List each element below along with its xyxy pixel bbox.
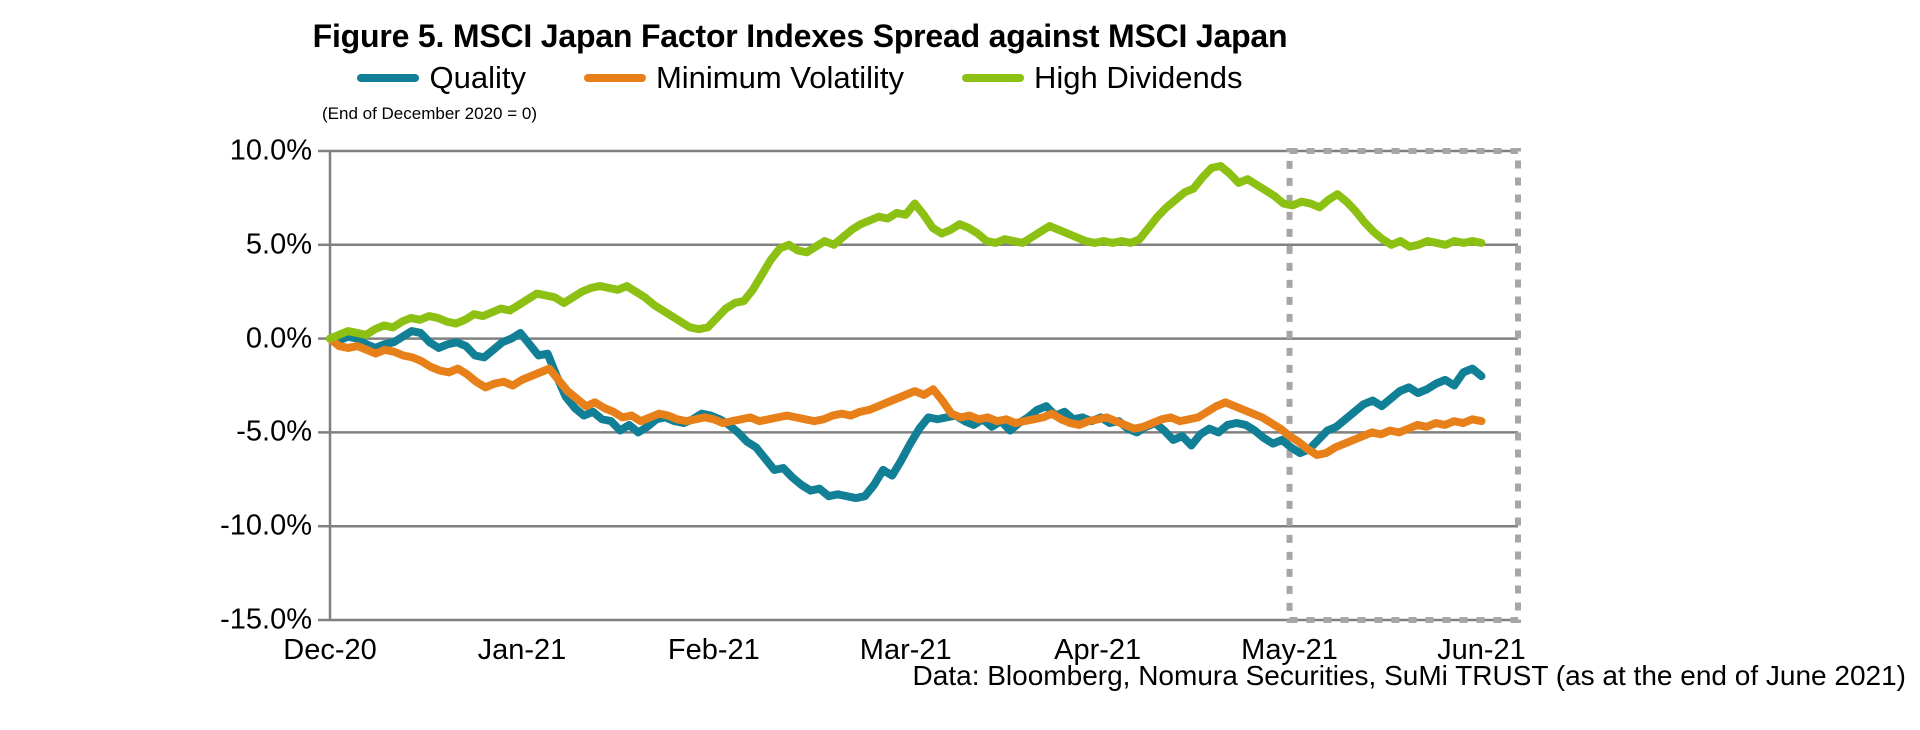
series-line-quality [330,331,1481,498]
source-note: Data: Bloomberg, Nomura Securities, SuMi… [913,660,1906,692]
figure-container: Figure 5. MSCI Japan Factor Indexes Spre… [0,0,1920,730]
series-line-high-dividends [330,166,1481,339]
series-line-minimum-volatility [330,339,1481,455]
y-axis-label: -10.0% [182,510,312,543]
x-axis-label: Feb-21 [668,634,760,667]
y-axis-label: 0.0% [182,322,312,355]
y-axis-label: -15.0% [182,604,312,637]
y-axis-label: -5.0% [182,416,312,449]
x-axis-label: Dec-20 [283,634,377,667]
y-axis-label: 10.0% [182,135,312,168]
x-axis-label: Jan-21 [478,634,567,667]
y-axis-label: 5.0% [182,228,312,261]
